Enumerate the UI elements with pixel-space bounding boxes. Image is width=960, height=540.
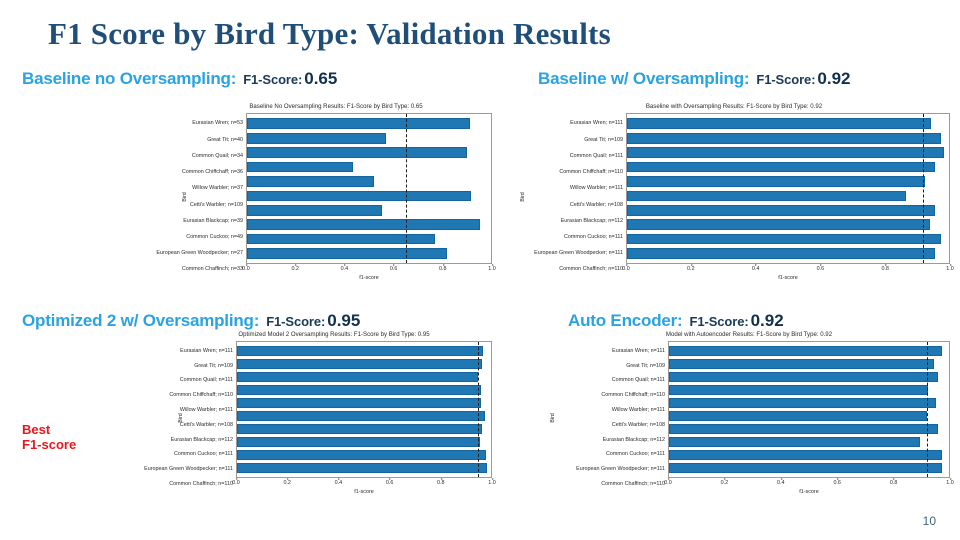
bar	[627, 219, 930, 230]
bar	[669, 411, 927, 421]
y-axis-tick-label: Common Cuckoo; n=111	[558, 448, 668, 463]
y-axis-tick-label: Eurasian Wren; n=111	[186, 344, 236, 359]
y-axis-tick-labels: Eurasian Wren; n=53Great Tit; n=40Common…	[190, 113, 246, 281]
bar-row	[627, 232, 949, 246]
x-axis: 0.00.20.40.60.81.0	[626, 264, 950, 274]
plot-wrapper: 0.00.20.40.60.81.0f1-score	[236, 341, 492, 495]
f1-score-value: 0.92	[817, 69, 850, 88]
plot-wrapper: 0.00.20.40.60.81.0f1-score	[626, 113, 950, 281]
x-axis-tick-label: 0.0	[232, 480, 240, 486]
bar-row	[237, 449, 491, 462]
x-axis-tick-label: 0.8	[439, 266, 447, 272]
y-axis-tick-label: Common Quail; n=111	[558, 374, 668, 389]
x-axis-label: f1-score	[626, 275, 950, 281]
section-heading-baseline-with-oversampling: Baseline w/ Oversampling:F1-Score:0.92	[538, 70, 851, 88]
x-axis-tick-label: 0.6	[386, 480, 394, 486]
plot-area	[668, 341, 950, 478]
bar	[237, 398, 481, 408]
y-axis-tick-label: Great Tit; n=40	[190, 132, 246, 148]
f1-score-label: F1-Score:	[756, 72, 815, 87]
bar-row	[669, 423, 949, 436]
bar	[627, 162, 935, 173]
y-axis-tick-labels: Eurasian Wren; n=111Great Tit; n=109Comm…	[528, 113, 626, 281]
bar	[669, 372, 938, 382]
bar-row	[669, 449, 949, 462]
bar	[669, 346, 942, 356]
x-axis-tick-label: 0.0	[242, 266, 250, 272]
x-axis: 0.00.20.40.60.81.0	[236, 478, 492, 488]
x-axis-tick-label: 0.8	[881, 266, 889, 272]
bar	[627, 248, 935, 259]
x-axis-tick-label: 0.4	[341, 266, 349, 272]
section-heading-auto-encoder: Auto Encoder:F1-Score:0.92	[568, 312, 784, 330]
bar	[669, 385, 928, 395]
y-axis-tick-label: Eurasian Blackcap; n=39	[190, 213, 246, 229]
x-axis-tick-label: 0.4	[752, 266, 760, 272]
y-axis-tick-label: Common Cuckoo; n=111	[186, 448, 236, 463]
threshold-line	[478, 342, 479, 477]
y-axis-label: Bird	[548, 341, 558, 495]
best-f1-line-1: Best	[22, 422, 76, 437]
best-f1-line-2: F1-score	[22, 437, 76, 452]
bar-row	[247, 203, 491, 217]
y-axis-tick-label: Willow Warbler; n=37	[190, 181, 246, 197]
x-axis-label: f1-score	[668, 489, 950, 495]
bar-series	[669, 342, 949, 477]
bar	[669, 450, 942, 460]
bar-row	[237, 423, 491, 436]
x-axis-tick-label: 0.6	[817, 266, 825, 272]
bar-row	[237, 462, 491, 475]
y-axis-tick-label: Cetti's Warbler; n=108	[186, 418, 236, 433]
f1-score-value: 0.95	[327, 311, 360, 330]
f1-score-label: F1-Score:	[266, 314, 325, 329]
bar-row	[237, 371, 491, 384]
y-axis-tick-labels: Eurasian Wren; n=111Great Tit; n=109Comm…	[186, 341, 236, 495]
y-axis-tick-label: Eurasian Wren; n=111	[528, 116, 626, 132]
bar	[247, 191, 471, 202]
chart-autoencoder: Model with Autoencoder Results: F1-Score…	[548, 332, 950, 500]
bar-row	[247, 217, 491, 231]
y-axis-tick-label: Willow Warbler; n=111	[528, 181, 626, 197]
section-heading-optimized2-oversampling: Optimized 2 w/ Oversampling:F1-Score:0.9…	[22, 312, 360, 330]
x-axis-tick-label: 0.2	[721, 480, 729, 486]
threshold-line	[406, 114, 407, 263]
slide-canvas: F1 Score by Bird Type: Validation Result…	[0, 0, 960, 540]
chart-title: Optimized Model 2 Oversampling Results: …	[176, 332, 492, 338]
bar	[247, 234, 435, 245]
x-axis: 0.00.20.40.60.81.0	[246, 264, 492, 274]
bar-series	[247, 114, 491, 263]
y-axis-tick-label: Common Chiffchaff; n=110	[528, 165, 626, 181]
chart-body: BirdEurasian Wren; n=111Great Tit; n=109…	[518, 113, 950, 281]
y-axis-tick-label: Great Tit; n=109	[558, 359, 668, 374]
y-axis-tick-label: Willow Warbler; n=111	[558, 403, 668, 418]
bar	[237, 437, 480, 447]
y-axis-tick-label: Eurasian Blackcap; n=112	[186, 433, 236, 448]
y-axis-tick-label: Great Tit; n=109	[528, 132, 626, 148]
chart-body: BirdEurasian Wren; n=111Great Tit; n=109…	[176, 341, 492, 495]
bar-row	[247, 232, 491, 246]
bar-row	[237, 410, 491, 423]
bar	[627, 176, 925, 187]
y-axis-tick-label: Common Chiffchaff; n=110	[186, 388, 236, 403]
y-axis-tick-label: Common Cuckoo; n=111	[528, 230, 626, 246]
bar-row	[669, 410, 949, 423]
bar-row	[237, 436, 491, 449]
x-axis-tick-label: 0.4	[777, 480, 785, 486]
bar-row	[247, 160, 491, 174]
x-axis: 0.00.20.40.60.81.0	[668, 478, 950, 488]
y-axis-tick-label: Common Quail; n=34	[190, 149, 246, 165]
page-title: F1 Score by Bird Type: Validation Result…	[48, 16, 611, 52]
y-axis-tick-label: Cetti's Warbler; n=108	[558, 418, 668, 433]
y-axis-tick-labels: Eurasian Wren; n=111Great Tit; n=109Comm…	[558, 341, 668, 495]
bar	[247, 176, 374, 187]
y-axis-tick-label: Great Tit; n=109	[186, 359, 236, 374]
bar-row	[669, 462, 949, 475]
x-axis-tick-label: 0.8	[890, 480, 898, 486]
plot-wrapper: 0.00.20.40.60.81.0f1-score	[668, 341, 950, 495]
bar	[247, 162, 353, 173]
bar-row	[669, 384, 949, 397]
bar	[669, 398, 936, 408]
f1-score-value: 0.65	[304, 69, 337, 88]
y-axis-tick-label: European Green Woodpecker; n=111	[528, 246, 626, 262]
threshold-line	[923, 114, 924, 263]
y-axis-tick-label: Common Chiffchaff; n=36	[190, 165, 246, 181]
bar	[247, 118, 470, 129]
y-axis-tick-label: Common Chaffinch; n=110	[186, 477, 236, 492]
bar-row	[627, 131, 949, 145]
chart-body: BirdEurasian Wren; n=111Great Tit; n=109…	[548, 341, 950, 495]
x-axis-tick-label: 0.4	[335, 480, 343, 486]
f1-score-label: F1-Score:	[243, 72, 302, 87]
bar-row	[627, 203, 949, 217]
bar	[237, 372, 478, 382]
bar	[237, 463, 487, 473]
bar-row	[669, 358, 949, 371]
bar-row	[237, 384, 491, 397]
bar-series	[627, 114, 949, 263]
section-heading-label: Auto Encoder:	[568, 311, 683, 330]
chart-baseline-no-oversampling: Baseline No Oversampling Results: F1-Sco…	[180, 104, 492, 286]
bar	[669, 359, 934, 369]
x-axis-label: f1-score	[236, 489, 492, 495]
y-axis-label: Bird	[518, 113, 528, 281]
bar	[627, 234, 941, 245]
bar-row	[669, 397, 949, 410]
bar	[669, 463, 942, 473]
bar-row	[247, 145, 491, 159]
bar-row	[627, 160, 949, 174]
bar	[247, 133, 386, 144]
bar	[237, 424, 482, 434]
x-axis-tick-label: 0.2	[283, 480, 291, 486]
x-axis-tick-label: 1.0	[488, 480, 496, 486]
x-axis-tick-label: 0.0	[622, 266, 630, 272]
y-axis-tick-label: Common Chaffinch; n=110	[558, 477, 668, 492]
bar	[237, 359, 482, 369]
section-heading-label: Baseline no Oversampling:	[22, 69, 236, 88]
plot-area	[626, 113, 950, 264]
chart-baseline-with-oversampling: Baseline with Oversampling Results: F1-S…	[518, 104, 950, 286]
plot-area	[236, 341, 492, 478]
bar-row	[627, 117, 949, 131]
bar	[247, 219, 480, 230]
chart-body: BirdEurasian Wren; n=53Great Tit; n=40Co…	[180, 113, 492, 281]
bar-row	[237, 345, 491, 358]
bar	[627, 205, 935, 216]
bar-row	[247, 117, 491, 131]
bar	[247, 205, 382, 216]
y-axis-tick-label: Common Quail; n=111	[186, 374, 236, 389]
bar-row	[247, 189, 491, 203]
x-axis-tick-label: 0.0	[664, 480, 672, 486]
y-axis-tick-label: European Green Woodpecker; n=27	[190, 246, 246, 262]
x-axis-tick-label: 0.6	[390, 266, 398, 272]
bar-row	[237, 397, 491, 410]
y-axis-tick-label: Common Quail; n=111	[528, 149, 626, 165]
chart-optimized2-oversampling: Optimized Model 2 Oversampling Results: …	[176, 332, 492, 500]
bar	[247, 248, 447, 259]
chart-title: Baseline No Oversampling Results: F1-Sco…	[180, 104, 492, 110]
bar-row	[627, 174, 949, 188]
bar-row	[627, 217, 949, 231]
y-axis-tick-label: Cetti's Warbler; n=108	[528, 197, 626, 213]
bar-row	[247, 131, 491, 145]
x-axis-tick-label: 1.0	[488, 266, 496, 272]
bar-row	[627, 145, 949, 159]
y-axis-tick-label: Common Chiffchaff; n=110	[558, 388, 668, 403]
y-axis-tick-label: Cetti's Warbler; n=109	[190, 197, 246, 213]
x-axis-label: f1-score	[246, 275, 492, 281]
y-axis-tick-label: European Green Woodpecker; n=111	[186, 462, 236, 477]
x-axis-tick-label: 0.2	[291, 266, 299, 272]
plot-area	[246, 113, 492, 264]
bar-row	[669, 371, 949, 384]
bar-row	[669, 436, 949, 449]
y-axis-tick-label: Eurasian Blackcap; n=112	[558, 433, 668, 448]
section-heading-baseline-no-oversampling: Baseline no Oversampling:F1-Score:0.65	[22, 70, 337, 88]
y-axis-tick-label: Willow Warbler; n=111	[186, 403, 236, 418]
bar-row	[627, 189, 949, 203]
bar	[669, 437, 920, 447]
f1-score-label: F1-Score:	[690, 314, 749, 329]
bar	[627, 191, 906, 202]
bar	[237, 385, 481, 395]
x-axis-tick-label: 0.8	[437, 480, 445, 486]
y-axis-tick-label: Common Chaffinch; n=110	[528, 262, 626, 278]
chart-title: Model with Autoencoder Results: F1-Score…	[548, 332, 950, 338]
bar	[627, 147, 944, 158]
bar-row	[247, 246, 491, 260]
plot-wrapper: 0.00.20.40.60.81.0f1-score	[246, 113, 492, 281]
bar	[627, 133, 941, 144]
y-axis-tick-label: Eurasian Blackcap; n=112	[528, 213, 626, 229]
bar	[237, 346, 483, 356]
bar	[669, 424, 938, 434]
bar-row	[627, 246, 949, 260]
x-axis-tick-label: 0.6	[833, 480, 841, 486]
y-axis-tick-label: Eurasian Wren; n=53	[190, 116, 246, 132]
bar	[237, 411, 485, 421]
x-axis-tick-label: 1.0	[946, 266, 954, 272]
section-heading-label: Optimized 2 w/ Oversampling:	[22, 311, 259, 330]
y-axis-tick-label: Common Cuckoo; n=49	[190, 230, 246, 246]
section-heading-label: Baseline w/ Oversampling:	[538, 69, 749, 88]
bar-row	[237, 358, 491, 371]
bar-row	[247, 174, 491, 188]
threshold-line	[927, 342, 928, 477]
y-axis-tick-label: Common Chaffinch; n=33	[190, 262, 246, 278]
best-f1-annotation: Best F1-score	[22, 422, 76, 453]
bar-row	[669, 345, 949, 358]
x-axis-tick-label: 0.2	[687, 266, 695, 272]
bar	[247, 147, 467, 158]
y-axis-tick-label: Eurasian Wren; n=111	[558, 344, 668, 359]
bar-series	[237, 342, 491, 477]
bar	[237, 450, 486, 460]
x-axis-tick-label: 1.0	[946, 480, 954, 486]
chart-title: Baseline with Oversampling Results: F1-S…	[518, 104, 950, 110]
f1-score-value: 0.92	[751, 311, 784, 330]
bar	[627, 118, 931, 129]
y-axis-tick-label: European Green Woodpecker; n=111	[558, 462, 668, 477]
page-number: 10	[923, 514, 936, 528]
